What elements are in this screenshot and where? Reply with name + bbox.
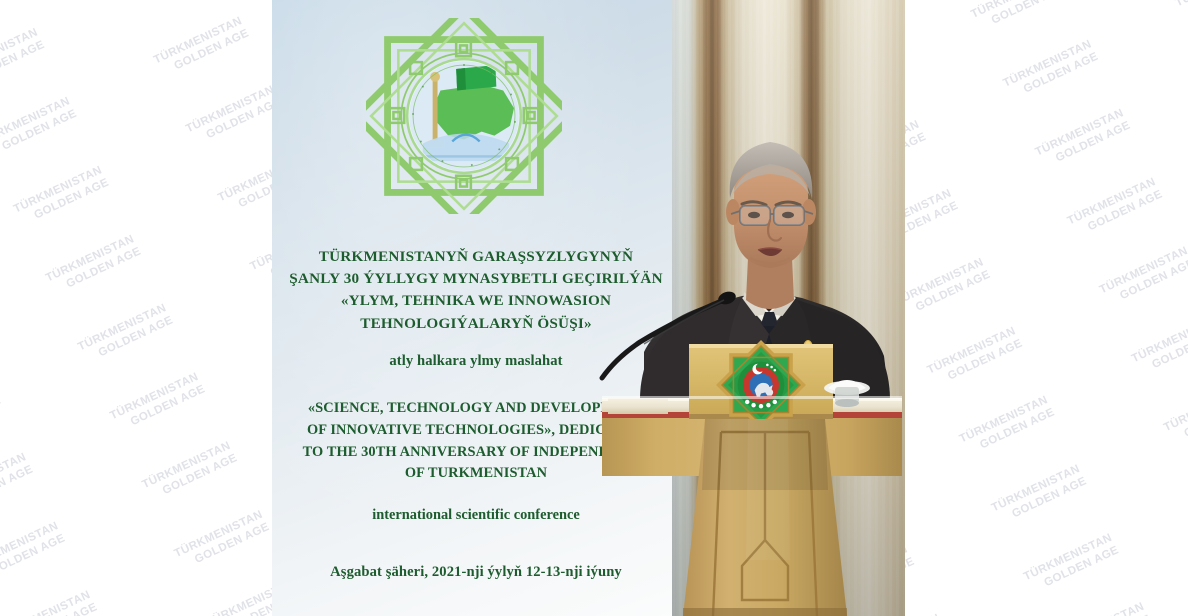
podium	[272, 0, 905, 616]
page-root: TÜRKMENISTANGOLDEN AGETÜRKMENISTANGOLDEN…	[0, 0, 1188, 616]
conference-photo: TÜRKMENISTANYŇ GARAŞSYZLYGYNYŇ ŞANLY 30 …	[272, 0, 905, 616]
